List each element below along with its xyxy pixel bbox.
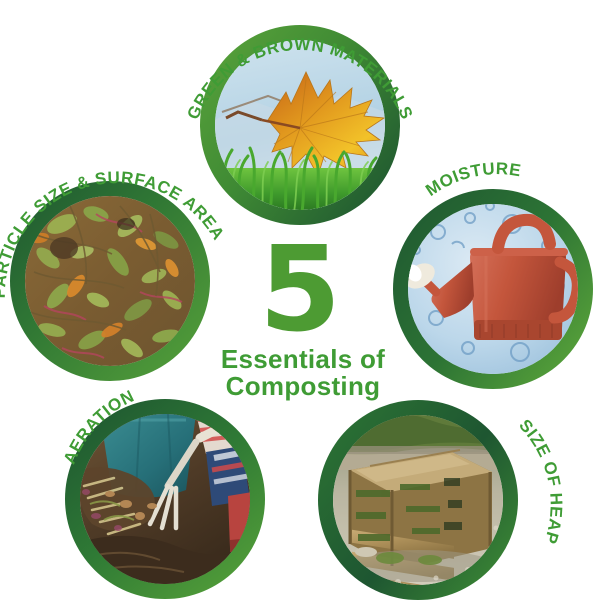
composting-diagram: GREEN & BROWN MATERIALS <box>0 0 600 610</box>
center-title-block: 5 Essentials of Composting <box>221 220 385 401</box>
essentials-count: 5 <box>259 220 341 358</box>
title-line-2: Composting <box>226 371 381 401</box>
node-particle-size-surface-area[interactable]: PARTICLE SIZE & SURFACE AREA <box>0 168 228 381</box>
title-line-1: Essentials of <box>221 344 385 374</box>
photo-particle-size-surface-area <box>25 196 195 366</box>
node-aeration[interactable]: AERATION <box>60 386 265 599</box>
node-green-brown-materials[interactable]: GREEN & BROWN MATERIALS <box>183 25 416 225</box>
label-size-of-heap: SIZE OF HEAP <box>515 416 566 547</box>
infographic-canvas: GREEN & BROWN MATERIALS <box>0 0 600 610</box>
node-moisture[interactable]: MOISTURE <box>393 159 593 389</box>
